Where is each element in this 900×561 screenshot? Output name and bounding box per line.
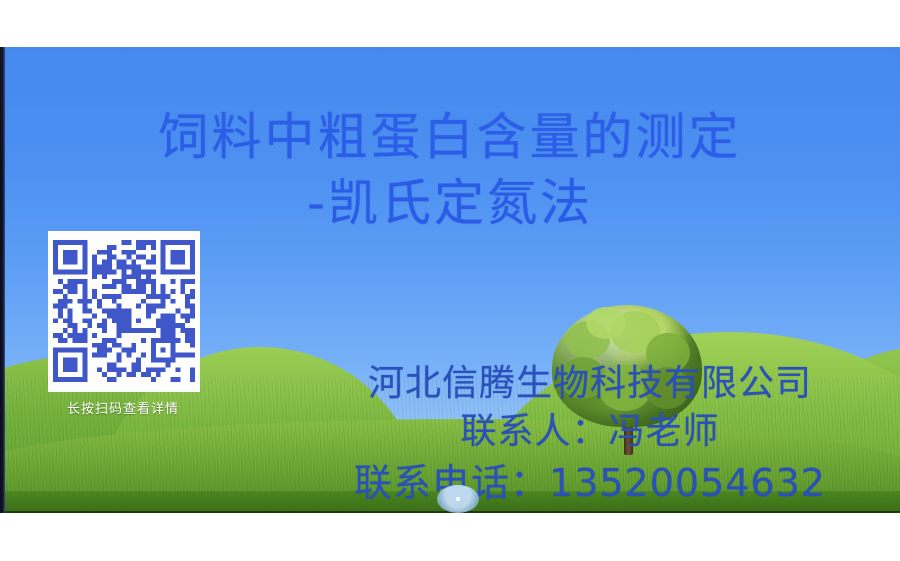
- video-title-block: 饲料中粗蛋白含量的测定 -凯氏定氮法: [0, 104, 900, 236]
- play-button[interactable]: [437, 485, 479, 513]
- play-button-dot: [456, 497, 460, 501]
- contact-person: 联系人：冯老师: [300, 407, 880, 457]
- leaf-cluster: [586, 307, 626, 339]
- qr-code-card[interactable]: [48, 231, 200, 392]
- frame-left-edge-bar: [0, 47, 5, 513]
- video-poster-page: 饲料中粗蛋白含量的测定 -凯氏定氮法 长按扫码查看详情 河北信腾生物科技有限公司…: [0, 0, 900, 561]
- qr-code-image[interactable]: [53, 240, 195, 382]
- page-subtitle: -凯氏定氮法: [0, 170, 900, 236]
- video-player[interactable]: 饲料中粗蛋白含量的测定 -凯氏定氮法 长按扫码查看详情 河北信腾生物科技有限公司…: [0, 47, 900, 513]
- company-info-block: 河北信腾生物科技有限公司 联系人：冯老师 联系电话：13520054632: [300, 360, 880, 509]
- qr-code-caption: 长按扫码查看详情: [28, 401, 218, 418]
- company-name: 河北信腾生物科技有限公司: [300, 360, 880, 407]
- contact-phone: 联系电话：13520054632: [300, 457, 880, 509]
- page-title: 饲料中粗蛋白含量的测定: [0, 104, 900, 170]
